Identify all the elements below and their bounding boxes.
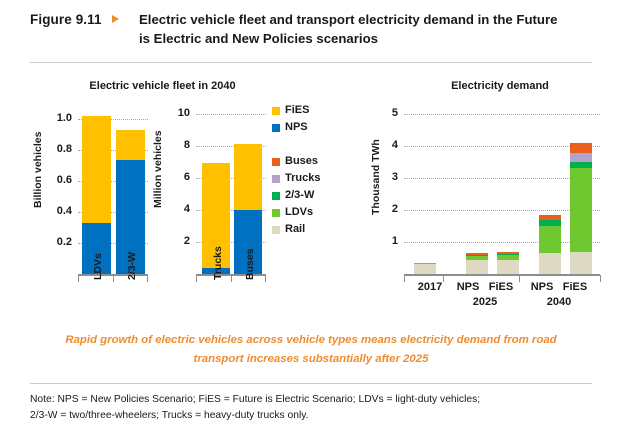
bar-segment-2-3-w bbox=[570, 162, 592, 168]
x-tick bbox=[78, 275, 79, 282]
y-tick-label: 4 bbox=[364, 139, 398, 151]
y-tick-label: 1 bbox=[364, 235, 398, 247]
bar-segment-2-3-w bbox=[497, 254, 519, 255]
bar-electricity-demand-3 bbox=[539, 104, 561, 274]
y-tick-label: 10 bbox=[156, 107, 190, 119]
header-divider bbox=[30, 62, 592, 63]
y-tick-label: 3 bbox=[364, 171, 398, 183]
x-tick bbox=[196, 275, 197, 282]
x-tick bbox=[265, 275, 266, 282]
y-tick-label: 8 bbox=[156, 139, 190, 151]
x-axis-group-label-2040: 2040 bbox=[526, 296, 592, 308]
bar-segment-buses bbox=[570, 143, 592, 153]
x-tick bbox=[600, 275, 601, 282]
bar-segment-fies bbox=[116, 130, 145, 159]
x-tick bbox=[404, 275, 405, 282]
figure-title: Electric vehicle fleet and transport ele… bbox=[139, 10, 559, 48]
legend-swatch-nps bbox=[272, 124, 280, 132]
x-tick bbox=[113, 275, 114, 282]
panel-title-electricity-demand: Electricity demand bbox=[400, 80, 600, 92]
x-tick bbox=[147, 275, 148, 282]
y-tick-label: 0.2 bbox=[38, 236, 72, 248]
bar-electricity-demand-2 bbox=[497, 104, 519, 274]
legend-swatch-fies bbox=[272, 107, 280, 115]
bar-segment-buses bbox=[539, 215, 561, 221]
x-tick bbox=[231, 275, 232, 282]
legend-swatch-2-3-w bbox=[272, 192, 280, 200]
bar-electricity-demand-4 bbox=[570, 104, 592, 274]
y-tick-label: 2 bbox=[156, 235, 190, 247]
bar-ev-fleet-billion-1 bbox=[116, 104, 145, 274]
bar-segment-ldvs bbox=[414, 263, 436, 264]
y-tick-label: 0.6 bbox=[38, 174, 72, 186]
figure-caption: Rapid growth of electric vehicles across… bbox=[61, 331, 561, 369]
x-axis-group-label-2025: 2025 bbox=[452, 296, 518, 308]
legend-label: Rail bbox=[285, 223, 305, 235]
bar-segment-rail bbox=[466, 260, 488, 274]
bar-segment-2-3-w bbox=[466, 255, 488, 256]
footer-divider bbox=[30, 383, 592, 384]
x-axis-line-electricity-demand bbox=[404, 274, 600, 276]
legend-swatch-ldvs bbox=[272, 209, 280, 217]
triangle-right-icon bbox=[112, 15, 119, 23]
x-axis-label-fies: FiES bbox=[484, 281, 518, 293]
bar-segment-rail bbox=[497, 260, 519, 274]
x-axis-label-trucks: Trucks bbox=[212, 246, 224, 280]
x-axis-label-2-3-w: 2/3-W bbox=[126, 252, 138, 280]
note-line-1: Note: NPS = New Policies Scenario; FiES … bbox=[30, 394, 480, 405]
x-tick bbox=[519, 275, 520, 282]
bar-segment-rail bbox=[570, 252, 592, 274]
figure-note: Note: NPS = New Policies Scenario; FiES … bbox=[30, 392, 592, 424]
y-tick-label: 2 bbox=[364, 203, 398, 215]
bar-segment-ldvs bbox=[466, 256, 488, 260]
x-axis-label-nps: NPS bbox=[526, 281, 558, 293]
bar-ev-fleet-billion-0 bbox=[82, 104, 111, 274]
bar-segment-ldvs bbox=[497, 255, 519, 259]
bar-segment-fies bbox=[234, 144, 262, 210]
legend-swatch-trucks bbox=[272, 175, 280, 183]
bar-segment-trucks bbox=[570, 153, 592, 162]
x-axis-label-buses: Buses bbox=[244, 248, 256, 280]
x-axis-label-fies: FiES bbox=[558, 281, 592, 293]
bar-segment-ldvs bbox=[570, 168, 592, 252]
bar-electricity-demand-1 bbox=[466, 104, 488, 274]
y-tick-label: 6 bbox=[156, 171, 190, 183]
y-tick-label: 0.8 bbox=[38, 143, 72, 155]
legend-label: Buses bbox=[285, 155, 318, 167]
legend-label: 2/3-W bbox=[285, 189, 314, 201]
y-tick-label: 5 bbox=[364, 107, 398, 119]
legend-label: FiES bbox=[285, 104, 309, 116]
bar-segment-fies bbox=[82, 116, 111, 223]
x-axis-label-nps: NPS bbox=[452, 281, 484, 293]
legend-label: LDVs bbox=[285, 206, 313, 218]
y-tick-label: 0.4 bbox=[38, 205, 72, 217]
bar-segment-buses bbox=[497, 252, 519, 254]
bar-segment-rail bbox=[414, 264, 436, 274]
figure-header: Figure 9.11 Electric vehicle fleet and t… bbox=[0, 0, 622, 62]
x-axis-label-ldvs: LDVs bbox=[92, 253, 104, 280]
legend-swatch-buses bbox=[272, 158, 280, 166]
panel-title-ev-fleet-billion: Electric vehicle fleet in 2040 bbox=[55, 80, 270, 92]
y-tick-label: 4 bbox=[156, 203, 190, 215]
legend-label: Trucks bbox=[285, 172, 320, 184]
y-tick-label: 1.0 bbox=[38, 112, 72, 124]
bar-segment-2-3-w bbox=[539, 220, 561, 225]
bar-segment-buses bbox=[466, 253, 488, 255]
legend-swatch-rail bbox=[272, 226, 280, 234]
bar-segment-ldvs bbox=[539, 226, 561, 253]
x-tick bbox=[443, 275, 444, 282]
figure-number: Figure 9.11 bbox=[30, 12, 102, 27]
bar-electricity-demand-0 bbox=[414, 104, 436, 274]
note-line-2: 2/3-W = two/three-wheelers; Trucks = hea… bbox=[30, 408, 592, 424]
x-axis-label-2017: 2017 bbox=[404, 281, 456, 293]
bar-segment-rail bbox=[539, 253, 561, 274]
legend-label: NPS bbox=[285, 121, 308, 133]
